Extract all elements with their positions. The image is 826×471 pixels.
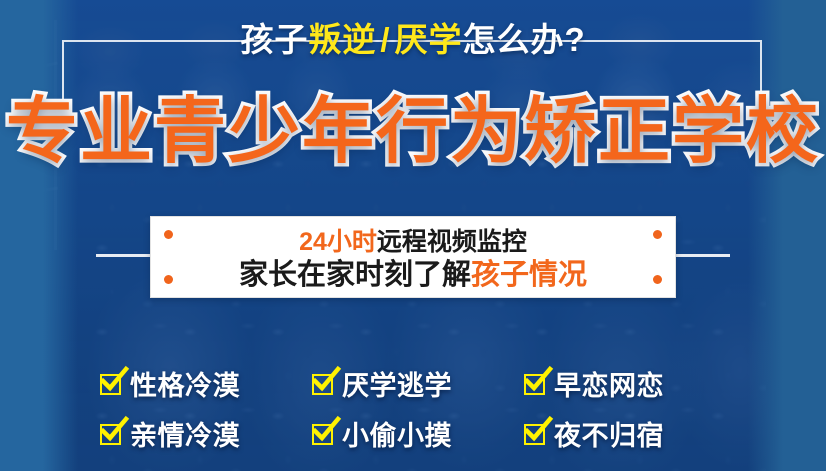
kicker-highlight-school-aversion: 厌学 bbox=[395, 21, 463, 58]
checkbox-checked-icon[interactable] bbox=[100, 424, 121, 445]
card-rule-left bbox=[96, 254, 152, 257]
symptom-checklist: 性格冷漠 厌学逃学 早恋网恋 亲情冷漠 bbox=[100, 360, 726, 456]
info-card-line-2: 家长在家时刻了解孩子情况 bbox=[151, 259, 675, 292]
checklist-item[interactable]: 小偷小摸 bbox=[312, 410, 514, 456]
checkbox-checked-icon[interactable] bbox=[524, 374, 545, 395]
info-card-child-highlight: 孩子情况 bbox=[471, 259, 587, 291]
checklist-item[interactable]: 夜不归宿 bbox=[524, 410, 726, 456]
checklist-item[interactable]: 厌学逃学 bbox=[312, 360, 514, 406]
checklist-item-label: 小偷小摸 bbox=[342, 414, 452, 453]
checklist-item[interactable]: 早恋网恋 bbox=[524, 360, 726, 406]
promo-banner: 孩子叛逆/厌学怎么办? 专业青少年行为矫正学校 24小时远程视频监控 家长在家时… bbox=[0, 0, 826, 471]
info-card: 24小时远程视频监控 家长在家时刻了解孩子情况 bbox=[150, 216, 676, 298]
info-card-line-2-prefix: 家长在家时刻了解 bbox=[239, 259, 471, 291]
checkbox-checked-icon[interactable] bbox=[524, 424, 545, 445]
card-rule-right bbox=[674, 254, 730, 257]
checklist-item-label: 性格冷漠 bbox=[130, 364, 240, 403]
kicker-text: 孩子叛逆/厌学怎么办? bbox=[0, 23, 826, 56]
checkbox-checked-icon[interactable] bbox=[312, 374, 333, 395]
checklist-item[interactable]: 性格冷漠 bbox=[100, 360, 302, 406]
banner-content: 孩子叛逆/厌学怎么办? 专业青少年行为矫正学校 24小时远程视频监控 家长在家时… bbox=[0, 0, 826, 471]
kicker-prefix: 孩子 bbox=[240, 21, 308, 58]
checklist-item-label: 厌学逃学 bbox=[342, 364, 452, 403]
info-card-surface: 24小时远程视频监控 家长在家时刻了解孩子情况 bbox=[150, 216, 676, 298]
kicker-highlight-rebellion: 叛逆 bbox=[308, 21, 376, 58]
info-card-hours-highlight: 24小时 bbox=[299, 228, 377, 256]
kicker-suffix: 怎么办? bbox=[463, 21, 586, 58]
kicker-separator: / bbox=[376, 21, 394, 58]
checklist-item-label: 夜不归宿 bbox=[554, 414, 664, 453]
checkbox-checked-icon[interactable] bbox=[312, 424, 333, 445]
info-card-line-1: 24小时远程视频监控 bbox=[151, 228, 675, 257]
page-title: 专业青少年行为矫正学校 bbox=[0, 96, 826, 169]
checklist-item-label: 亲情冷漠 bbox=[130, 414, 240, 453]
checklist-item[interactable]: 亲情冷漠 bbox=[100, 410, 302, 456]
info-card-line-1-rest: 远程视频监控 bbox=[377, 228, 527, 256]
checklist-item-label: 早恋网恋 bbox=[554, 364, 664, 403]
checkbox-checked-icon[interactable] bbox=[100, 374, 121, 395]
